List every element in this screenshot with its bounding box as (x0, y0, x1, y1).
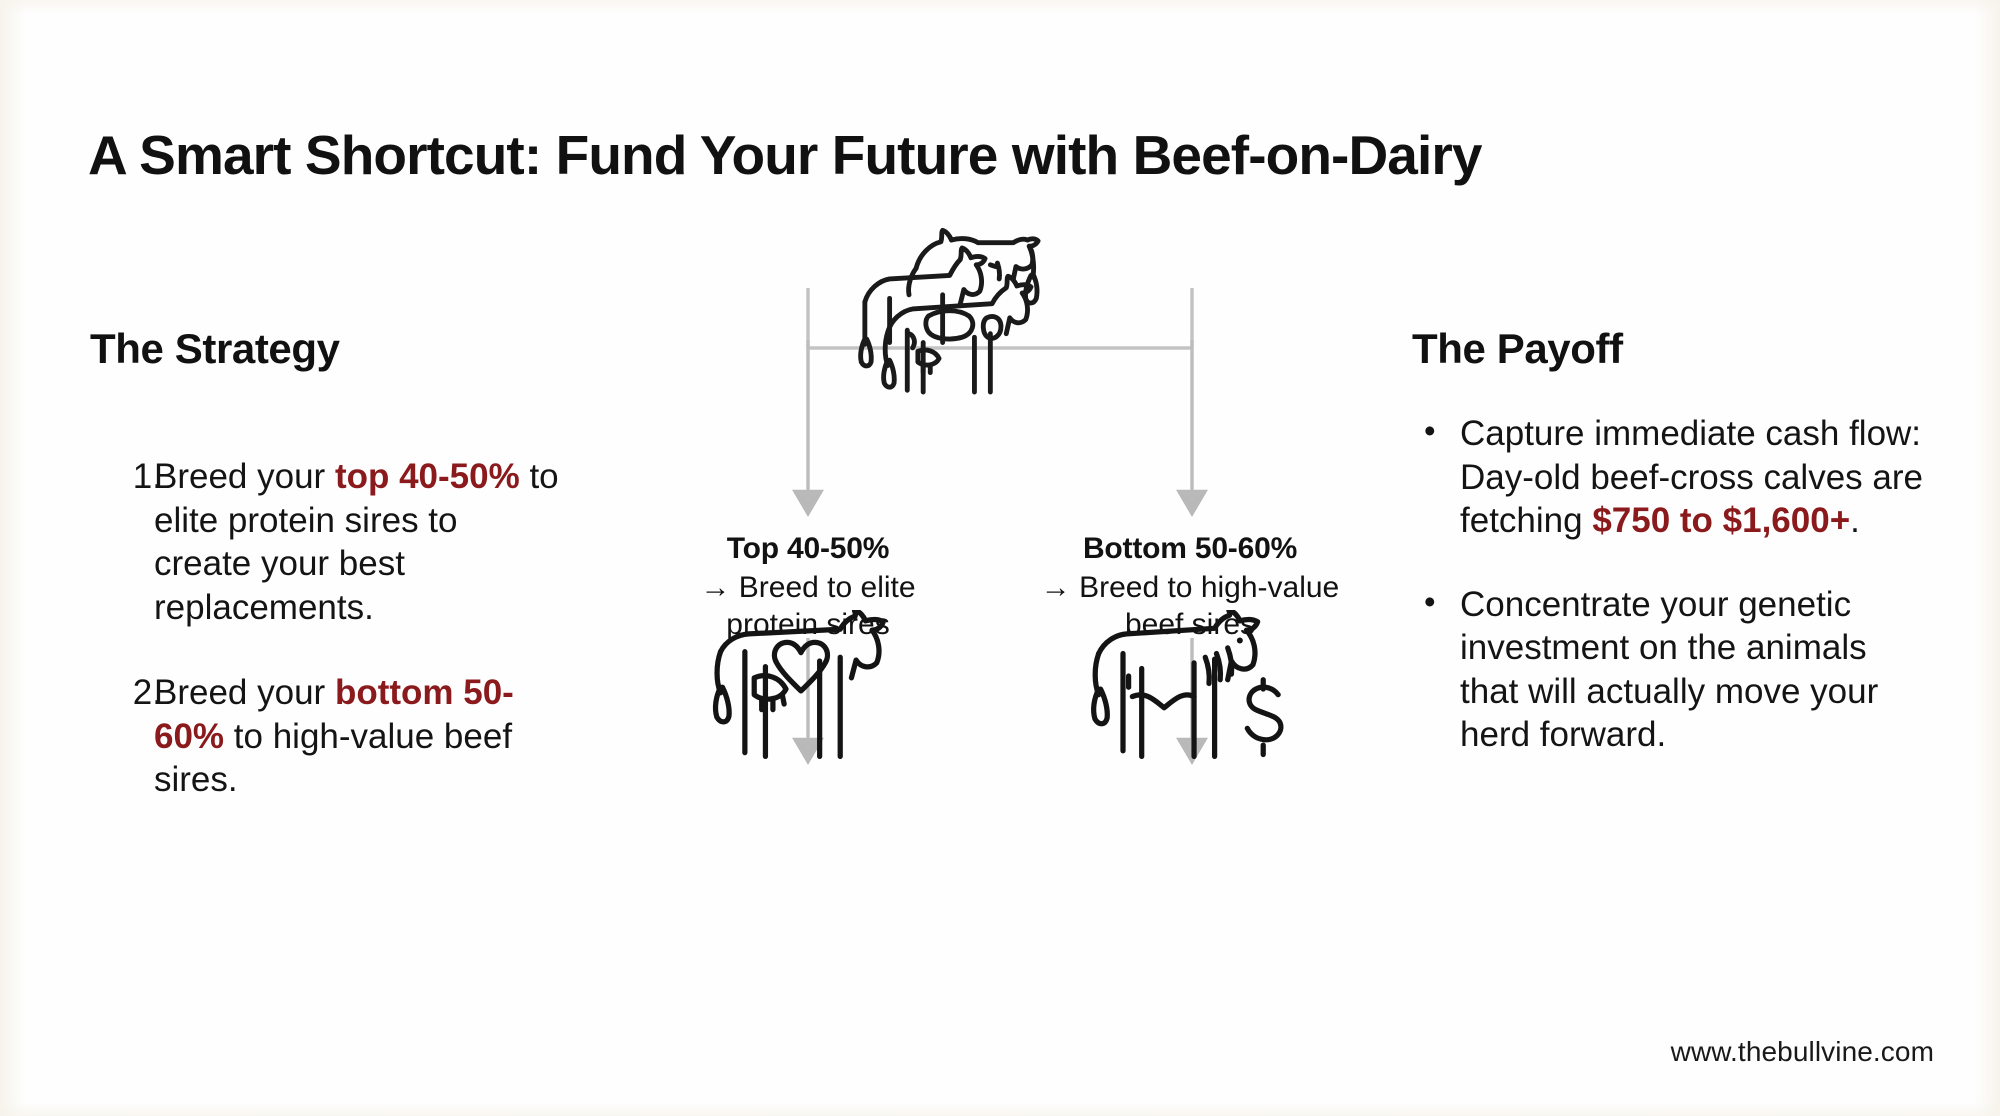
flow-diagram: Top 40-50% → Breed to elite protein sire… (640, 240, 1380, 960)
strategy-heading: The Strategy (90, 325, 340, 373)
highlight-segment: top 40-50% (335, 457, 520, 496)
strategy-list: 1. Breed your top 40-50% to elite protei… (90, 455, 560, 844)
list-item-text: Capture immediate cash flow: Day-old bee… (1460, 414, 1923, 540)
list-item-text: Breed your bottom 50-60% to high-value b… (154, 673, 514, 799)
bullet-icon: • (1424, 410, 1436, 451)
payoff-heading: The Payoff (1412, 325, 1623, 373)
text-segment: . (1850, 501, 1860, 540)
branch-heading: Bottom 50-60% (1040, 530, 1340, 567)
three-cows-icon (830, 210, 1080, 400)
highlight-segment: $750 to $1,600+ (1592, 501, 1850, 540)
list-item: • Concentrate your genetic investment on… (1412, 583, 1932, 757)
list-marker: 1. (122, 455, 162, 499)
footer-url: www.thebullvine.com (1671, 1036, 1934, 1068)
list-item: • Capture immediate cash flow: Day-old b… (1412, 412, 1932, 543)
dairy-cow-heart-icon (700, 610, 915, 770)
infographic-canvas: A Smart Shortcut: Fund Your Future with … (0, 0, 2000, 1116)
list-item-text: Concentrate your genetic investment on t… (1460, 585, 1878, 755)
list-marker: 2. (122, 671, 162, 715)
page-title: A Smart Shortcut: Fund Your Future with … (88, 125, 1918, 187)
payoff-list: • Capture immediate cash flow: Day-old b… (1412, 412, 1932, 797)
list-item-text: Breed your top 40-50% to elite protein s… (154, 457, 559, 627)
beef-cow-dollar-icon (1080, 610, 1295, 770)
text-segment: Breed your (154, 673, 335, 712)
list-item: 2. Breed your bottom 50-60% to high-valu… (90, 671, 560, 802)
bullet-icon: • (1424, 581, 1436, 622)
text-segment: Breed your (154, 457, 335, 496)
branch-heading: Top 40-50% (658, 530, 958, 567)
list-item: 1. Breed your top 40-50% to elite protei… (90, 455, 560, 629)
